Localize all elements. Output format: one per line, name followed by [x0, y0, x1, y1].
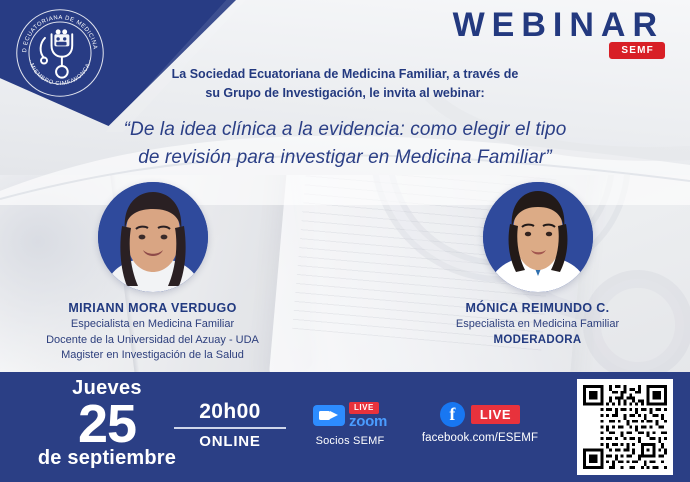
speaker-name: MIRIANN MORA VERDUGO [35, 301, 270, 315]
speaker-role: MODERADORA [420, 334, 655, 346]
zoom-channel[interactable]: LIVE zoom Socios SEMF [296, 402, 404, 447]
intro-text: La Sociedad Ecuatoriana de Medicina Fami… [0, 65, 690, 103]
avatar [483, 182, 593, 292]
event-mode: ONLINE [168, 433, 292, 450]
page-title: “De la idea clínica a la evidencia: como… [0, 116, 690, 171]
speaker-card: MÓNICA REIMUNDO C. Especialista en Medic… [420, 182, 655, 367]
facebook-url: facebook.com/ESEMF [404, 432, 556, 444]
live-badge: LIVE [471, 405, 520, 424]
speakers-section: MIRIANN MORA VERDUGO Especialista en Med… [0, 182, 690, 367]
speaker-detail: Especialista en Medicina Familiar [35, 317, 270, 333]
webinar-poster: SOCIEDAD ECUATORIANA DE MEDICINA FAMILIA… [0, 0, 690, 482]
title-line-2: de revisión para investigar en Medicina … [56, 144, 634, 172]
title-line-1: “De la idea clínica a la evidencia: como… [56, 116, 634, 144]
video-camera-icon [313, 405, 345, 426]
event-month: de septiembre [12, 447, 202, 470]
intro-line-2: su Grupo de Investigación, le invita al … [110, 84, 580, 103]
divider [174, 427, 286, 429]
facebook-channel[interactable]: f LIVE facebook.com/ESEMF [404, 402, 556, 444]
zoom-wordmark: zoom [349, 414, 387, 430]
webinar-title: WEBINAR [453, 8, 664, 42]
speaker-name: MÓNICA REIMUNDO C. [420, 301, 655, 315]
facebook-icon: f [440, 402, 465, 427]
speaker-detail: Especialista en Medicina Familiar [420, 317, 655, 333]
footer-band: Jueves 25 de septiembre 20h00 ONLINE LIV… [0, 372, 690, 482]
speaker-detail: Magister en Investigación de la Salud [35, 348, 270, 364]
semf-badge: SEMF [608, 41, 666, 60]
qr-code[interactable] [577, 379, 673, 475]
event-hour: 20h00 [168, 400, 292, 424]
zoom-caption: Socios SEMF [296, 435, 404, 447]
speaker-detail: Docente de la Universidad del Azuay - UD… [35, 333, 270, 349]
intro-line-1: La Sociedad Ecuatoriana de Medicina Fami… [110, 65, 580, 84]
avatar [98, 182, 208, 292]
speaker-card: MIRIANN MORA VERDUGO Especialista en Med… [35, 182, 270, 367]
event-time: 20h00 ONLINE [168, 400, 292, 450]
